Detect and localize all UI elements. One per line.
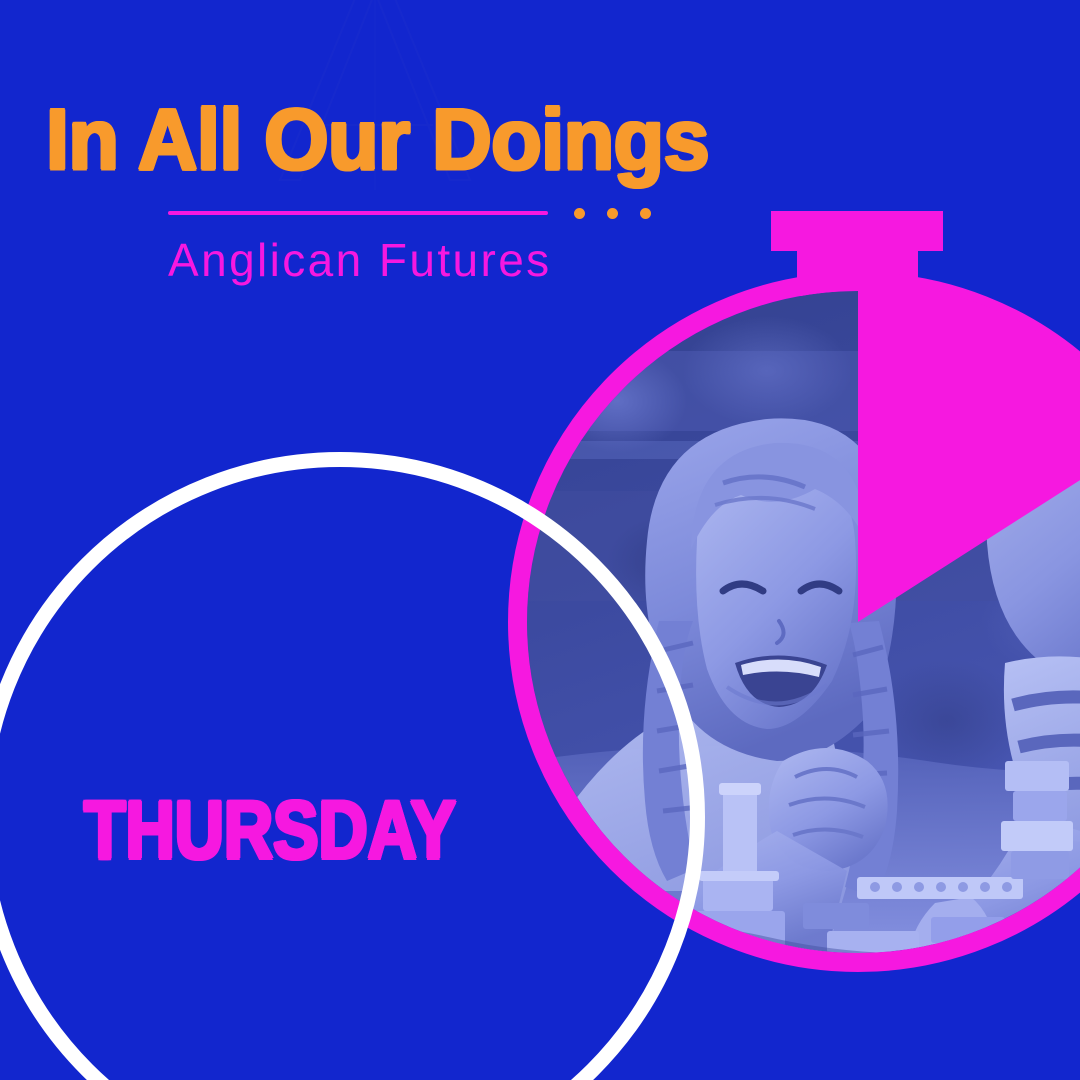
divider-dot	[640, 208, 651, 219]
divider-dot	[574, 208, 585, 219]
divider-dots	[574, 208, 651, 219]
stopwatch-crown-bar	[771, 211, 943, 251]
white-outline-circle	[0, 452, 705, 1080]
divider-dot	[607, 208, 618, 219]
stopwatch-crown-stem	[797, 248, 918, 296]
day-label: THURSDAY	[84, 782, 456, 877]
stopwatch-hand-wedge	[508, 272, 1080, 972]
page-subtitle: Anglican Futures	[168, 233, 552, 287]
divider	[168, 206, 651, 220]
poster-canvas: In All Our Doings Anglican Futures THURS…	[0, 0, 1080, 1080]
stopwatch-ring	[508, 272, 1080, 972]
photo-disc	[527, 291, 1080, 953]
divider-line	[168, 211, 548, 215]
page-title: In All Our Doings	[46, 100, 709, 182]
